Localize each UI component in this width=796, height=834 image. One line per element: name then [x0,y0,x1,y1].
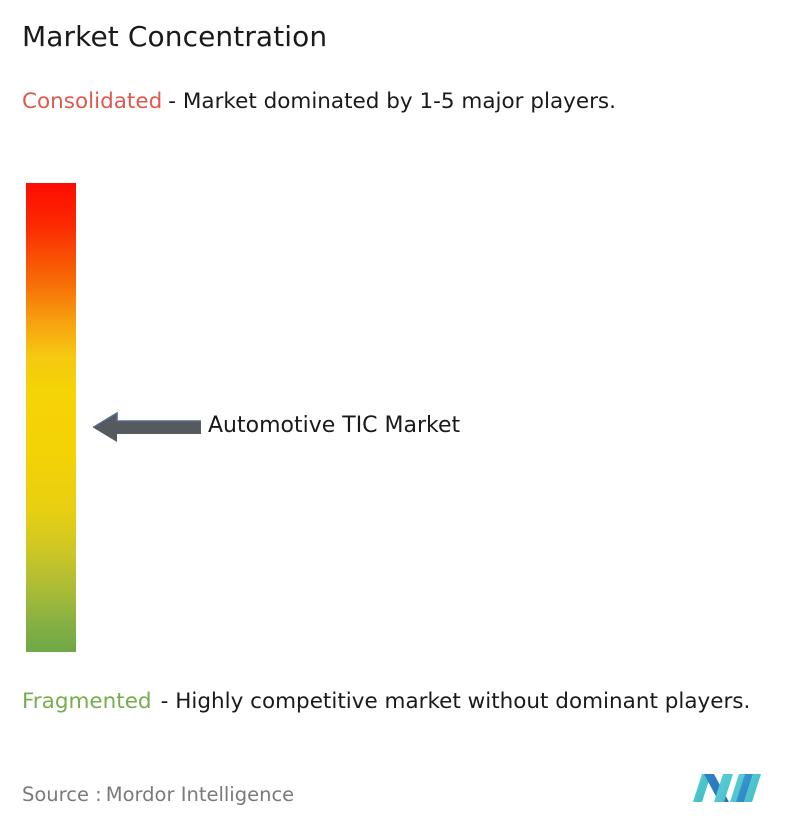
legend-fragmented-keyword: Fragmented [22,689,152,714]
legend-consolidated-description: Market dominated by 1-5 major players. [183,89,616,114]
market-position-label: Automotive TIC Market [208,413,460,438]
legend-fragmented-description: Highly competitive market without domina… [175,689,750,714]
concentration-gradient-bar [26,183,76,652]
legend-consolidated-keyword: Consolidated [22,89,162,114]
mordor-intelligence-logo-icon [693,770,769,810]
legend-consolidated-dash: - [168,89,176,114]
legend-consolidated: Consolidated- Market dominated by 1-5 ma… [22,86,774,117]
source-name: Mordor Intelligence [106,783,294,806]
market-position-arrow-icon [93,410,201,445]
market-concentration-figure: Market Concentration Consolidated- Marke… [0,0,796,834]
source-attribution: Source :Mordor Intelligence [22,783,294,806]
source-label: Source : [22,783,102,806]
page-title: Market Concentration [22,20,327,53]
legend-fragmented-dash: - [161,689,169,714]
legend-fragmented: Fragmented- Highly competitive market wi… [22,686,782,717]
